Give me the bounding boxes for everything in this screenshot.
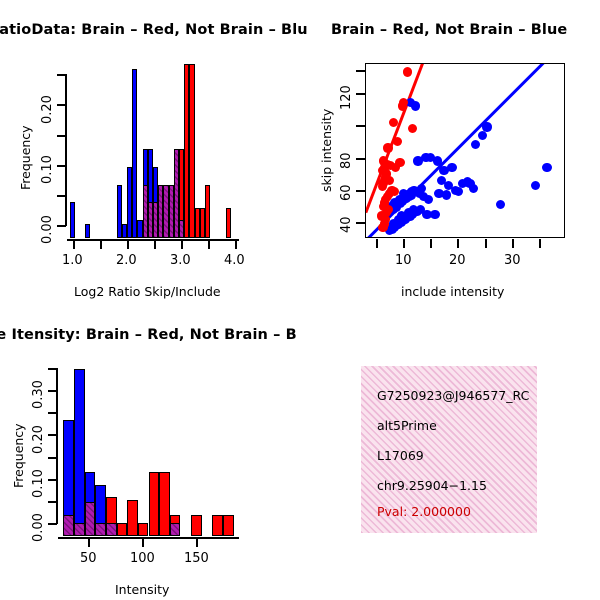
x-tick — [100, 240, 102, 249]
y-tick — [356, 190, 365, 192]
histogram-bar — [179, 220, 184, 238]
y-tick-label: 0.00 — [31, 513, 46, 542]
intensity-histogram-panel: ne Itensity: Brain – Red, Not Brain – B … — [0, 310, 300, 600]
scatter-point — [478, 131, 487, 140]
y-tick — [57, 165, 66, 167]
histogram-bar — [106, 523, 117, 536]
histogram-bar — [170, 523, 181, 536]
histogram-bar — [223, 515, 234, 536]
x-axis-label: include intensity — [401, 284, 504, 299]
scatter-point — [454, 187, 463, 196]
scatter-point — [421, 153, 430, 162]
scatter-point — [383, 143, 392, 152]
ratio-histogram-plot-area — [67, 60, 239, 238]
scatter-point — [463, 177, 472, 186]
scatter-point — [389, 219, 398, 228]
y-tick — [48, 412, 57, 414]
x-axis-line — [67, 239, 239, 241]
x-tick — [485, 239, 487, 248]
scatter-point — [542, 163, 551, 172]
histogram-bar — [205, 185, 210, 238]
y-axis-label: Frequency — [11, 423, 26, 488]
y-tick — [57, 74, 66, 76]
x-tick-label: 3.0 — [170, 253, 191, 268]
histogram-bar — [138, 523, 149, 536]
x-tick — [154, 240, 156, 249]
y-tick — [57, 104, 66, 106]
gene-id-text: G7250923@J946577_RC — [377, 388, 535, 403]
y-tick — [356, 222, 365, 224]
scatter-plot-area — [366, 64, 564, 237]
x-tick-label: 4.0 — [224, 253, 245, 268]
x-tick-label: 50 — [80, 551, 97, 566]
scatter-title: Brain – Red, Not Brain – Blue — [331, 22, 567, 38]
locus-text: chr9.25904−1.15 — [377, 478, 487, 493]
histogram-bar — [85, 502, 96, 536]
x-tick — [539, 239, 541, 248]
scatter-point — [408, 124, 417, 133]
scatter-point — [424, 195, 433, 204]
y-tick — [356, 70, 365, 72]
y-tick-label: 0.10 — [31, 469, 46, 498]
histogram-bar — [159, 472, 170, 536]
x-tick-label: 1.0 — [62, 253, 83, 268]
x-axis-label: Log2 Ratio Skip/Include — [74, 284, 221, 299]
y-tick — [57, 225, 66, 227]
y-tick-label: 0.20 — [40, 95, 55, 124]
histogram-bar — [132, 69, 137, 238]
y-axis-label: Frequency — [18, 125, 33, 190]
x-tick — [208, 240, 210, 249]
x-tick — [457, 239, 459, 248]
intensity-histogram-plot-area — [58, 360, 239, 536]
x-tick — [88, 538, 90, 547]
x-tick-label: 10 — [395, 253, 412, 268]
histogram-bar — [117, 523, 128, 536]
x-tick-label: 150 — [184, 551, 209, 566]
y-tick-label: 0.10 — [40, 155, 55, 184]
y-tick-label: 80 — [339, 152, 354, 169]
scatter-point — [389, 118, 398, 127]
intensity-histogram-title: ne Itensity: Brain – Red, Not Brain – B — [0, 327, 297, 343]
y-tick — [356, 125, 365, 127]
y-tick — [48, 368, 57, 370]
x-tick — [403, 239, 405, 248]
ratio-histogram-panel: RatioData: Brain – Red, Not Brain – Blu … — [0, 0, 300, 310]
histogram-bar — [70, 202, 75, 238]
y-tick — [48, 523, 57, 525]
scatter-point — [395, 158, 404, 167]
x-axis-line — [58, 537, 239, 539]
pval-text: Pval: 2.000000 — [377, 504, 471, 519]
scatter-point — [439, 166, 448, 175]
y-tick — [48, 434, 57, 436]
histogram-bar — [212, 515, 223, 536]
y-tick — [356, 93, 365, 95]
x-tick — [73, 240, 75, 249]
y-tick-label: 120 — [339, 85, 354, 110]
scatter-point — [442, 190, 451, 199]
histogram-bar — [127, 500, 138, 536]
y-axis-label: skip intensity — [319, 109, 334, 192]
scatter-point — [413, 156, 422, 165]
histogram-bar — [149, 472, 160, 536]
scatter-point — [471, 140, 480, 149]
x-tick-label: 20 — [449, 253, 466, 268]
scatter-point — [482, 122, 491, 131]
scatter-point — [379, 156, 388, 165]
x-tick — [127, 240, 129, 249]
intensity-scatter-panel: Brain – Red, Not Brain – Blue 40 60 80 1… — [300, 0, 600, 310]
x-tick-label: 100 — [130, 551, 155, 566]
scatter-point — [430, 210, 439, 219]
x-tick — [196, 538, 198, 547]
scatter-point — [447, 163, 456, 172]
y-tick — [57, 135, 66, 137]
histogram-bar — [191, 515, 202, 536]
histogram-bar — [74, 369, 85, 536]
x-axis-label: Intensity — [115, 582, 169, 597]
x-tick-label: 2.0 — [116, 253, 137, 268]
scatter-point — [496, 200, 505, 209]
y-tick — [48, 479, 57, 481]
x-tick — [181, 240, 183, 249]
x-tick-label: 30 — [504, 253, 521, 268]
histogram-bar — [74, 523, 85, 536]
accession-text: L17069 — [377, 448, 424, 463]
x-tick — [512, 239, 514, 248]
y-tick — [48, 501, 57, 503]
histogram-bar — [63, 515, 74, 536]
y-tick-label: 0.30 — [31, 380, 46, 409]
histogram-bar — [85, 224, 90, 239]
scatter-point — [403, 67, 412, 76]
histogram-bar — [226, 208, 231, 238]
scatter-point — [417, 184, 426, 193]
histogram-bar — [95, 523, 106, 536]
y-tick-label: 0.00 — [40, 215, 55, 244]
scatter-point — [393, 137, 402, 146]
x-tick — [376, 239, 378, 248]
x-tick — [430, 239, 432, 248]
event-type-text: alt5Prime — [377, 418, 437, 433]
y-tick — [57, 195, 66, 197]
y-tick-label: 60 — [339, 184, 354, 201]
y-tick-label: 40 — [339, 216, 354, 233]
x-tick — [142, 538, 144, 547]
scatter-point — [385, 176, 394, 185]
y-tick — [48, 457, 57, 459]
ratio-histogram-title: RatioData: Brain – Red, Not Brain – Blu — [0, 22, 308, 38]
y-tick — [48, 390, 57, 392]
gene-info-panel: G7250923@J946577_RC alt5Prime L17069 chr… — [361, 366, 537, 533]
y-tick — [356, 158, 365, 160]
x-tick — [235, 240, 237, 249]
scatter-point — [531, 181, 540, 190]
y-tick-label: 0.20 — [31, 425, 46, 454]
